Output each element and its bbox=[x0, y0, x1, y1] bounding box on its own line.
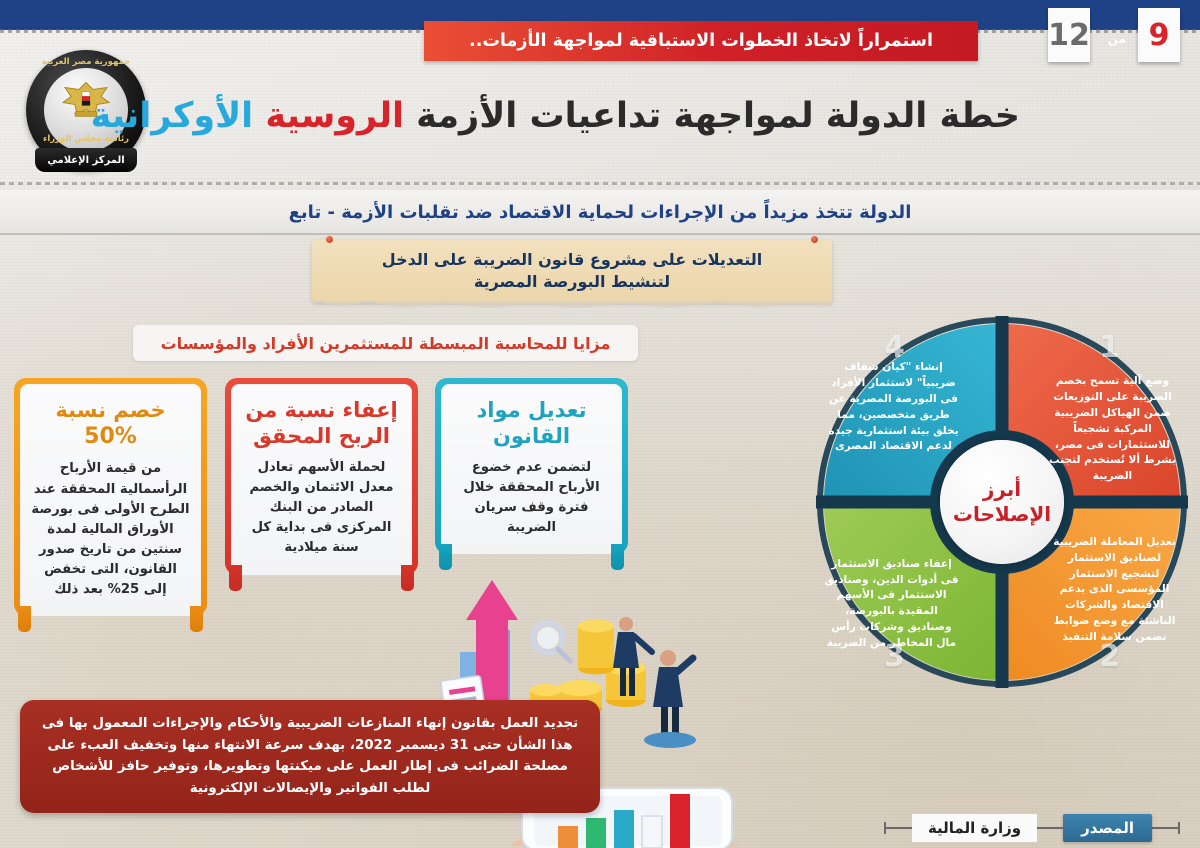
donut-center-line1: أبرز bbox=[983, 477, 1021, 502]
subheading-text: الدولة تتخذ مزيداً من الإجراءات لحماية ا… bbox=[289, 202, 912, 223]
card-amendment[interactable]: تعديل مواد القانون لتضمن عدم خضوع الأربا… bbox=[435, 378, 628, 554]
card-amendment-leg-right bbox=[611, 544, 624, 570]
card-discount-body: من قيمة الأرباح الرأسمالية المحققة عند ا… bbox=[31, 459, 190, 599]
businessman-left-icon bbox=[613, 617, 652, 696]
beige-heading-line2: لتنشيط البورصة المصرية bbox=[474, 271, 670, 293]
page-total-badge: 12 bbox=[1048, 8, 1090, 62]
source-dash-left bbox=[886, 827, 912, 829]
page-current-number: 9 bbox=[1149, 18, 1170, 53]
quadrant-3-text: إعفاء صناديق الاستثمار فى أدوات الدين، و… bbox=[824, 557, 959, 652]
section-title-box: مزايا للمحاسبة المبسطة للمستثمرين الأفرا… bbox=[133, 325, 638, 361]
card-exemption-inner: إعفاء نسبة من الربح المحقق لحملة الأسهم … bbox=[231, 384, 412, 575]
page-title: خطة الدولة لمواجهة تداعيات الأزمة الروسي… bbox=[20, 95, 1020, 137]
reforms-donut-diagram: 1 2 3 4 وضع آلية تسمح بخصم الضريبة على ا… bbox=[812, 312, 1192, 692]
donut-center-line2: الإصلاحات bbox=[953, 502, 1051, 527]
source-label: المصدر bbox=[1063, 814, 1152, 842]
header-banner-text: استمراراً لاتخاذ الخطوات الاستباقية لموا… bbox=[469, 31, 933, 51]
source-footer: المصدر وزارة المالية bbox=[884, 814, 1180, 842]
page-total-number: 12 bbox=[1048, 18, 1090, 53]
card-amendment-body: لتضمن عدم خضوع الأرباح المحققة خلال فترة… bbox=[452, 458, 611, 538]
title-separator bbox=[0, 182, 1200, 185]
card-amendment-inner: تعديل مواد القانون لتضمن عدم خضوع الأربا… bbox=[441, 384, 622, 554]
magnifier-icon bbox=[533, 623, 570, 661]
card-exemption-leg-right bbox=[401, 565, 414, 591]
source-cap-left bbox=[884, 822, 886, 834]
quadrant-1-text: وضع آلية تسمح بخصم الضريبة على التوزيعات… bbox=[1045, 374, 1180, 485]
pin-icon-right bbox=[811, 236, 818, 243]
card-amendment-leg-left bbox=[439, 544, 452, 570]
quadrant-2-text: تعديل المعاملة الضريبية لصناديق الاستثما… bbox=[1047, 535, 1182, 646]
card-discount-title: خصم نسبة 50% bbox=[31, 398, 190, 450]
source-tag-wrap bbox=[1152, 822, 1180, 834]
title-part-russian: الروسية bbox=[253, 96, 404, 136]
card-exemption-body: لحملة الأسهم تعادل معدل الائتمان والخصم … bbox=[242, 458, 401, 558]
card-amendment-title: تعديل مواد القانون bbox=[452, 398, 611, 449]
card-discount-leg-left bbox=[18, 606, 31, 632]
page-of-label: من bbox=[1108, 32, 1126, 46]
quadrant-4-text: إنشاء "كيان شفاف ضريبياً" لاستثمار الأفر… bbox=[826, 360, 961, 455]
source-dash-middle bbox=[1037, 827, 1063, 829]
quadrant-1-number: 1 bbox=[1099, 330, 1120, 365]
subheading-bar: الدولة تتخذ مزيداً من الإجراءات لحماية ا… bbox=[0, 190, 1200, 234]
card-discount-leg-right bbox=[190, 606, 203, 632]
card-discount-inner: خصم نسبة 50% من قيمة الأرباح الرأسمالية … bbox=[20, 384, 201, 616]
card-exemption[interactable]: إعفاء نسبة من الربح المحقق لحملة الأسهم … bbox=[225, 378, 418, 575]
header-red-banner: استمراراً لاتخاذ الخطوات الاستباقية لموا… bbox=[424, 21, 978, 61]
card-exemption-leg-left bbox=[229, 565, 242, 591]
infographic-page: استمراراً لاتخاذ الخطوات الاستباقية لموا… bbox=[0, 0, 1200, 848]
bottom-red-banner-text: تجديد العمل بقانون إنهاء المنازعات الضري… bbox=[36, 713, 584, 800]
logo-banner-text: المركز الإعلامي bbox=[35, 148, 137, 172]
torn-paper-edge bbox=[312, 300, 832, 311]
hand-shape bbox=[510, 816, 740, 846]
businessman-right-icon bbox=[644, 650, 696, 748]
logo-arc-top: جمهورية مصر العربية bbox=[22, 57, 150, 67]
source-value: وزارة المالية bbox=[912, 814, 1037, 842]
beige-heading-box: التعديلات على مشروع قانون الضريبة على ال… bbox=[312, 240, 832, 302]
section-title-text: مزايا للمحاسبة المبسطة للمستثمرين الأفرا… bbox=[161, 334, 611, 353]
card-discount[interactable]: خصم نسبة 50% من قيمة الأرباح الرأسمالية … bbox=[14, 378, 207, 616]
card-exemption-title-text: إعفاء نسبة من الربح المحقق bbox=[245, 398, 397, 448]
bottom-red-banner: تجديد العمل بقانون إنهاء المنازعات الضري… bbox=[20, 700, 600, 813]
title-part-ukrainian: الأوكرانية bbox=[91, 96, 254, 136]
source-cap-right bbox=[1178, 822, 1180, 834]
growth-arrow-icon bbox=[460, 580, 518, 710]
title-part-main: خطة الدولة لمواجهة تداعيات الأزمة bbox=[404, 96, 1020, 136]
card-discount-percent: 50% bbox=[31, 424, 190, 451]
donut-center-label: أبرز الإصلاحات bbox=[940, 440, 1064, 564]
page-current-badge: 9 bbox=[1138, 8, 1180, 62]
card-amendment-title-text: تعديل مواد القانون bbox=[477, 398, 587, 448]
beige-heading-line1: التعديلات على مشروع قانون الضريبة على ال… bbox=[382, 249, 762, 271]
card-discount-title-text: خصم نسبة bbox=[55, 398, 165, 422]
card-exemption-title: إعفاء نسبة من الربح المحقق bbox=[242, 398, 401, 449]
subheading-edge bbox=[0, 233, 1200, 235]
source-dash-right bbox=[1152, 827, 1178, 829]
pin-icon-left bbox=[326, 236, 333, 243]
